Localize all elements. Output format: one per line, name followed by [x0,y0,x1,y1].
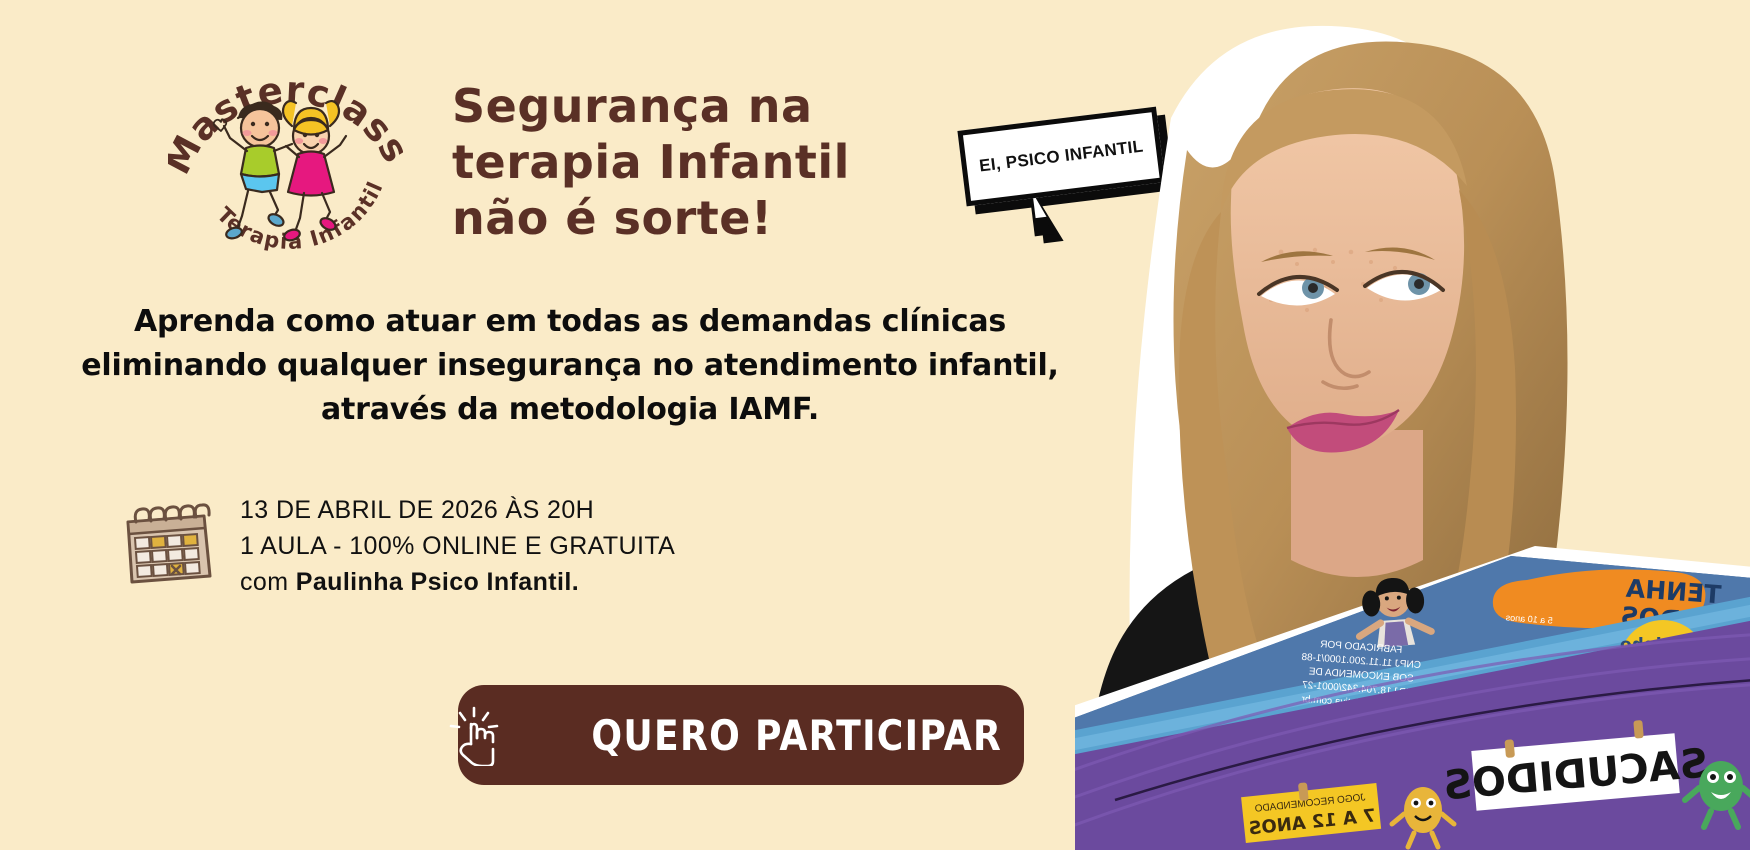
subhead-line-3: através da metodologia IAMF. [70,388,1070,432]
event-info-lines: 13 DE ABRIL DE 2026 ÀS 20H 1 AULA - 100%… [240,492,675,600]
info-host-name: Paulinha Psico Infantil. [296,568,579,596]
info-date-line: 13 DE ABRIL DE 2026 ÀS 20H [240,492,675,528]
page-headline: Segurança na terapia Infantil não é sort… [452,78,872,246]
logo-top-arc-text: Masterclass [168,68,403,181]
calendar-icon [118,494,218,590]
event-info-block: 13 DE ABRIL DE 2026 ÀS 20H 1 AULA - 100%… [118,492,675,600]
svg-text:Masterclass: Masterclass [168,68,403,181]
masterclass-logo: Masterclass Terapia Infantil [168,48,403,263]
headline-line-3: não é sorte! [452,190,872,246]
headline-line-2: terapia Infantil [452,134,872,190]
presenter-photo: TENHA MODOS 5 a 10 anos [1075,0,1750,850]
subhead-paragraph: Aprenda como atuar em todas as demandas … [70,300,1070,432]
subhead-line-1: Aprenda como atuar em todas as demandas … [70,300,1070,344]
logo-illustration: Masterclass Terapia Infantil [168,48,403,263]
presenter-photo-illustration: TENHA MODOS 5 a 10 anos [1075,0,1750,850]
masterclass-landing-banner: Masterclass Terapia Infantil [0,0,1750,850]
subhead-line-2: eliminando qualquer insegurança no atend… [70,344,1070,388]
photo-neck [1291,430,1423,577]
headline-line-1: Segurança na [452,78,872,134]
quero-participar-button[interactable]: QUERO PARTICIPAR [458,685,1024,785]
click-hand-icon [446,704,502,766]
info-format-line: 1 AULA - 100% ONLINE E GRATUITA [240,528,675,564]
info-host-prefix: com [240,568,296,596]
cta-button-label: QUERO PARTICIPAR [592,711,1003,760]
info-host-line: com Paulinha Psico Infantil. [240,564,675,600]
